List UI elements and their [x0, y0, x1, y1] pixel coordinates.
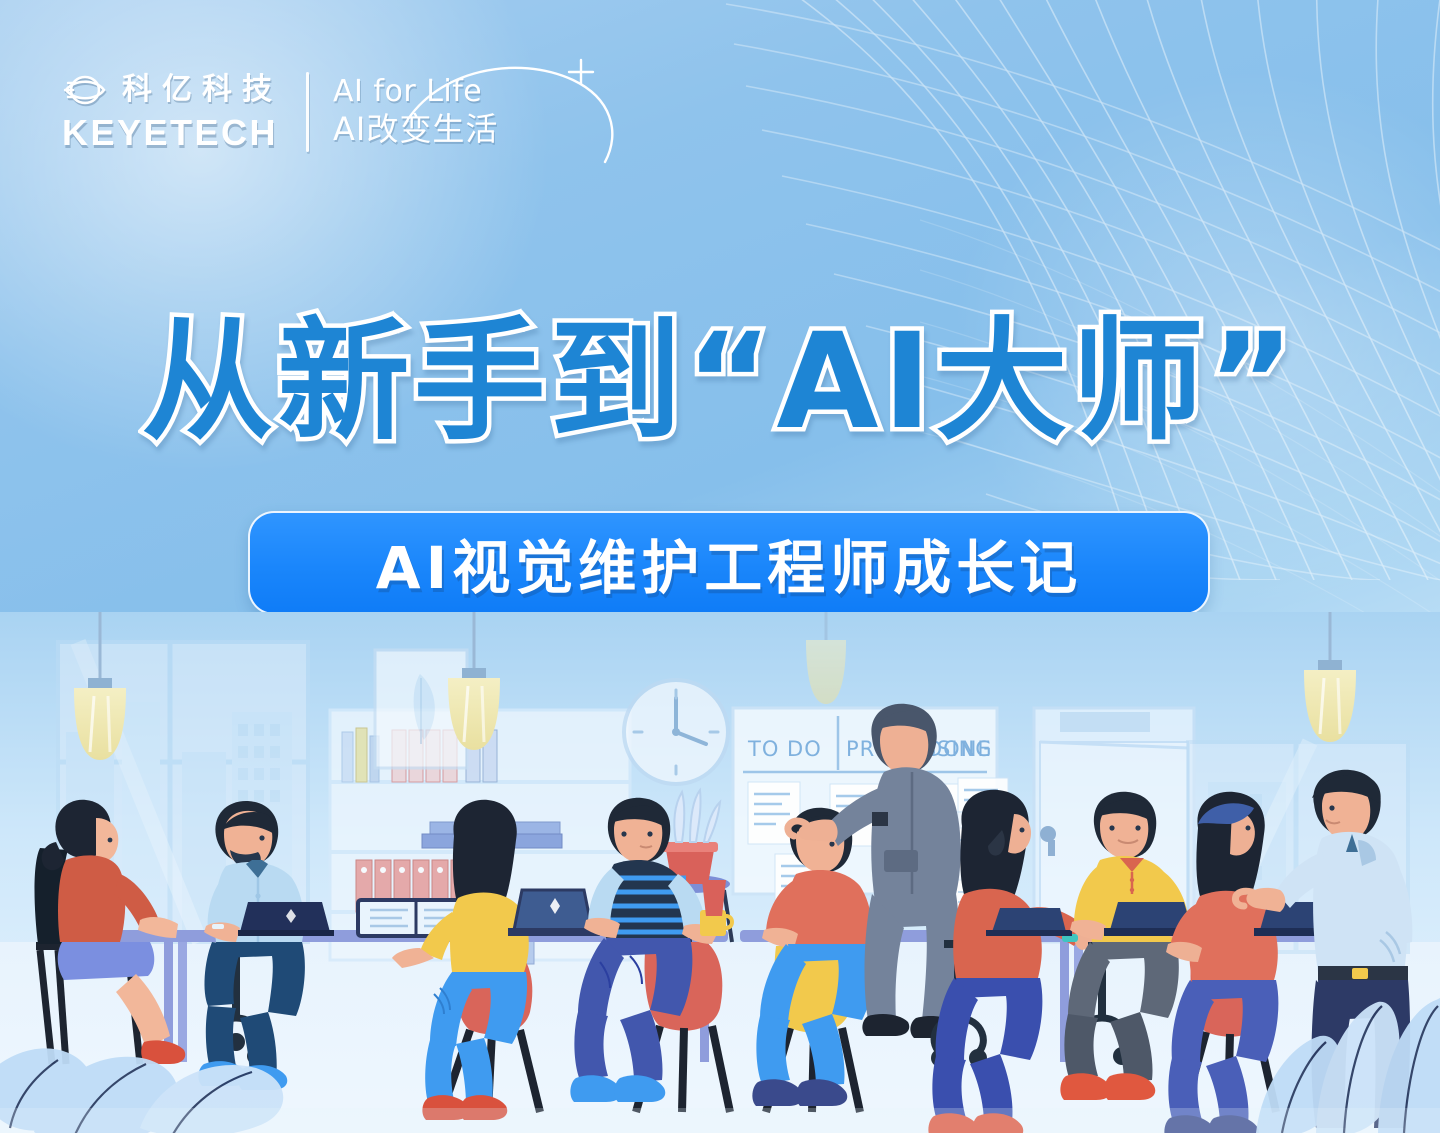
brand-slogan-block: AI for Life AI改变生活: [333, 76, 498, 148]
paper-cup: [702, 880, 726, 916]
brand-slogan-cn: AI改变生活: [333, 112, 498, 148]
poster-canvas: 科亿科技 KEYETECH AI for Life AI改变生活 从新手到“AI…: [0, 0, 1440, 1133]
eye-mark-icon: [62, 73, 108, 107]
sparkle-icon: [569, 60, 593, 84]
brand-name-en: KEYETECH: [62, 115, 278, 151]
illustration-scene: TO DO PROCESSING DONE: [0, 612, 1440, 1133]
brand-logo[interactable]: 科亿科技 KEYETECH AI for Life AI改变生活: [62, 72, 498, 152]
wall-clock: [624, 680, 728, 784]
brand-slogan-en: AI for Life: [333, 76, 498, 108]
brand-logo-left: 科亿科技 KEYETECH: [62, 73, 282, 151]
mesh-pattern-decoration: [720, 0, 1440, 580]
svg-text:TO DO: TO DO: [747, 737, 822, 761]
subtitle-banner: AI视觉维护工程师成长记: [248, 511, 1210, 615]
logo-divider: [306, 72, 309, 152]
subtitle-text: AI视觉维护工程师成长记: [376, 521, 1082, 605]
laptop-right-1: [986, 908, 1072, 936]
subtitle-banner-body: AI视觉维护工程师成长记: [248, 511, 1210, 615]
brand-name-cn: 科亿科技: [122, 75, 282, 105]
page-title: 从新手到“AI大师”: [0, 316, 1440, 448]
brand-name-cn-row: 科亿科技: [62, 73, 282, 107]
